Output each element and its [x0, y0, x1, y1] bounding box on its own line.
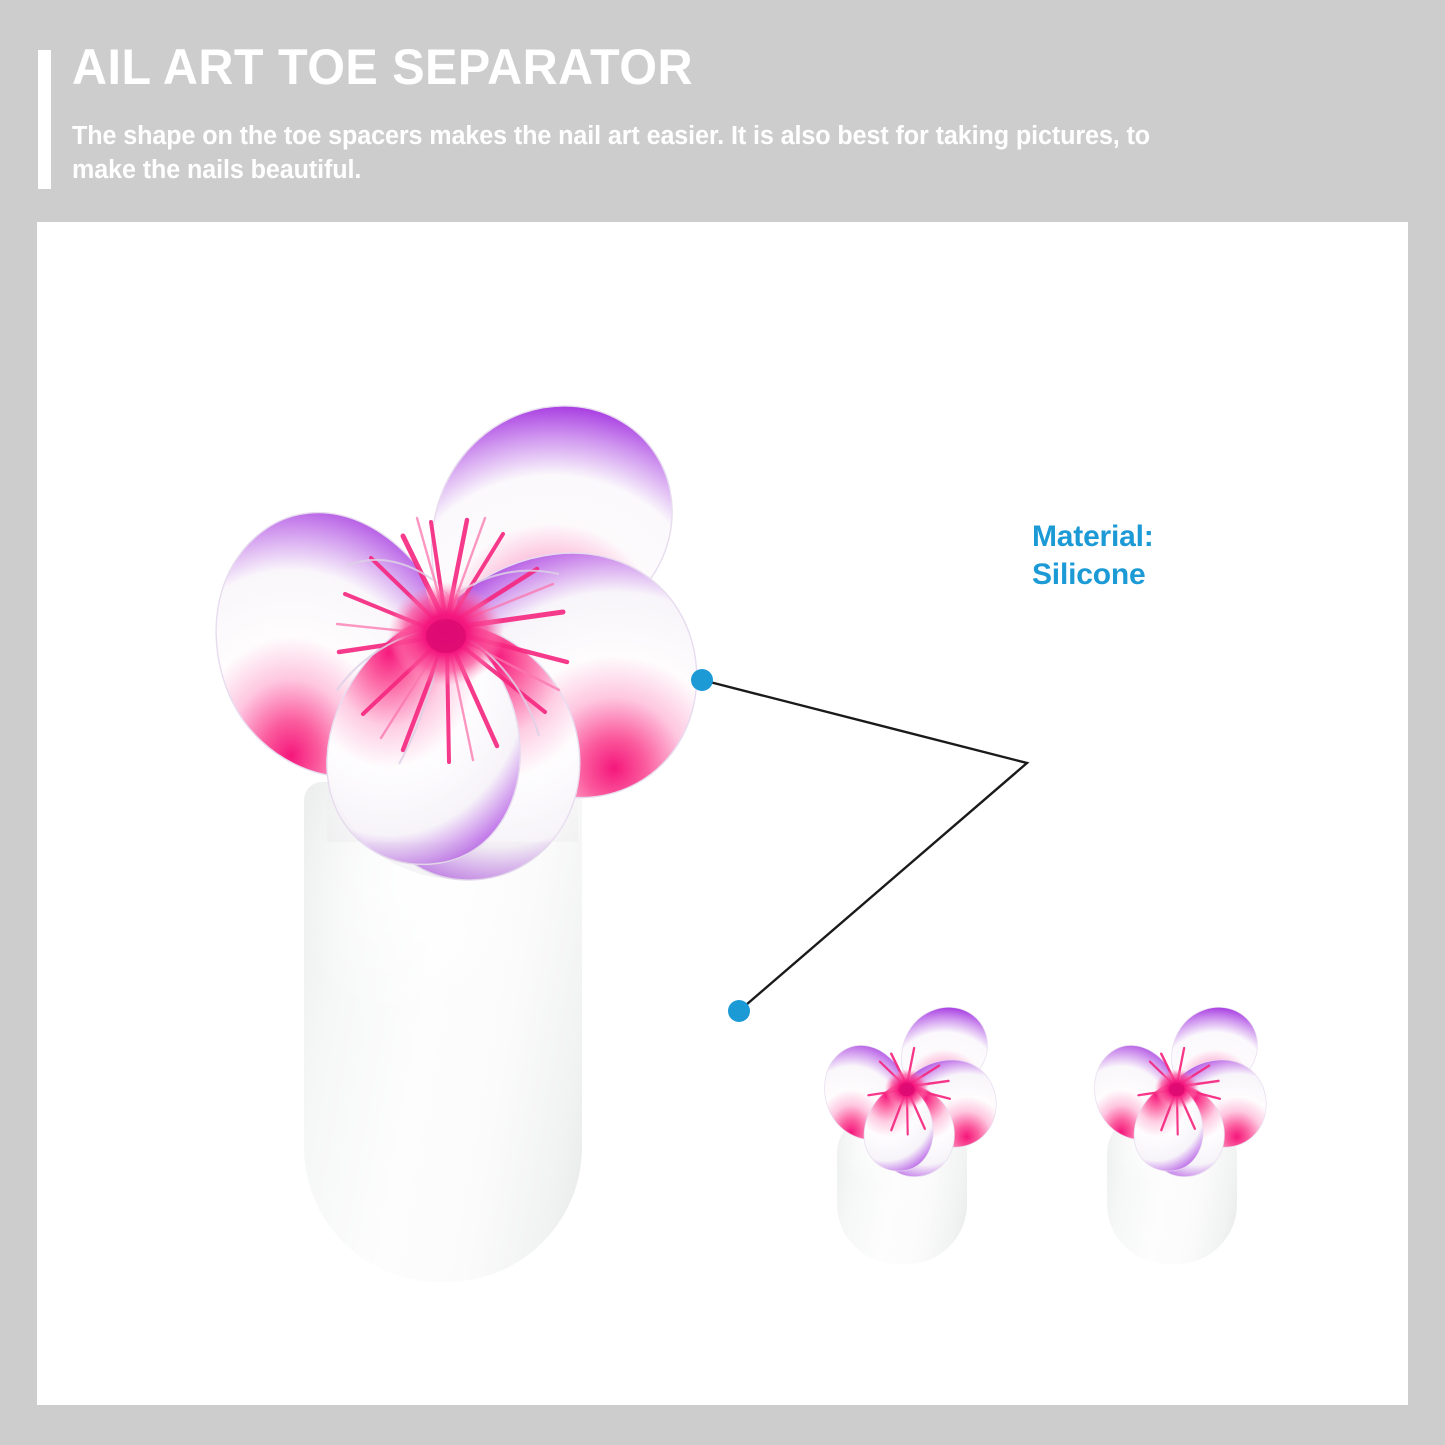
header-banner: AIL ART TOE SEPARATOR The shape on the t…	[0, 0, 1445, 222]
plumeria-flower-small-right	[1077, 972, 1277, 1172]
toe-separator-large	[167, 322, 727, 1322]
toe-separator-small-right	[1052, 952, 1292, 1282]
product-image-card: Material: Silicone	[37, 222, 1408, 1405]
callout-dot-bottom	[728, 1000, 750, 1022]
plumeria-flower-large	[167, 322, 727, 852]
toe-separator-small-left	[782, 952, 1022, 1282]
title-accent-bar	[38, 50, 51, 189]
page-subtitle: The shape on the toe spacers makes the n…	[72, 120, 1185, 187]
material-callout-label: Material: Silicone	[1032, 518, 1154, 595]
page-title: AIL ART TOE SEPARATOR	[72, 42, 693, 92]
plumeria-flower-small-left	[807, 972, 1007, 1172]
